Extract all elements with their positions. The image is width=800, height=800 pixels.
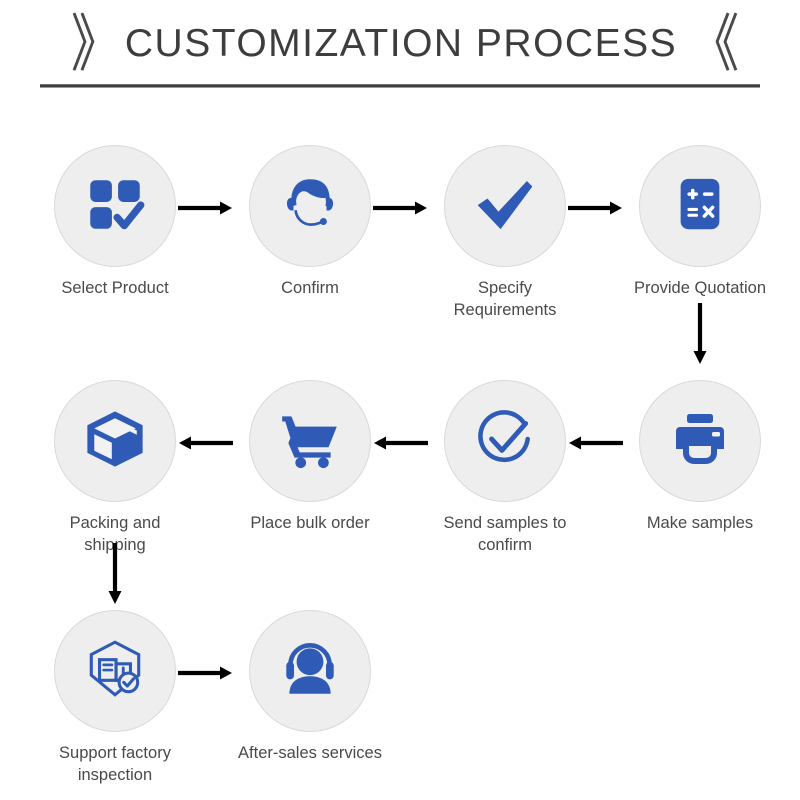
arrow-row1-step3-to-step4 <box>568 200 623 216</box>
step-label: Provide Quotation <box>625 278 775 300</box>
package-box-icon <box>81 405 149 478</box>
circle-check-icon <box>472 406 538 477</box>
page-title: CUSTOMIZATION PROCESS <box>125 22 677 66</box>
step-label: After-sales services <box>235 743 385 765</box>
step-support-factory-inspection[interactable]: Support factory inspection <box>40 610 190 787</box>
checkmark-icon <box>470 169 540 244</box>
step-send-samples-to-confirm[interactable]: Send samples to confirm <box>430 380 580 557</box>
arrow-row2-step3-to-step2 <box>373 435 428 451</box>
factory-inspection-icon <box>82 636 148 707</box>
step-icon-circle <box>249 145 371 267</box>
grid-check-icon <box>82 171 148 242</box>
step-confirm[interactable]: Confirm <box>235 145 385 300</box>
step-icon-circle <box>249 380 371 502</box>
step-make-samples[interactable]: Make samples <box>625 380 775 535</box>
step-label: Make samples <box>625 513 775 535</box>
process-flow: Select Product Confirm Speci <box>0 88 800 788</box>
step-after-sales-services[interactable]: After-sales services <box>235 610 385 765</box>
shopping-cart-icon <box>277 406 343 477</box>
arrow-row1-step2-to-step3 <box>373 200 428 216</box>
arrow-row2-to-row3 <box>107 543 123 605</box>
step-icon-circle <box>639 145 761 267</box>
arrow-row1-to-row2 <box>692 303 708 365</box>
calculator-icon <box>669 173 731 240</box>
step-label: Send samples to confirm <box>430 513 580 557</box>
step-icon-circle <box>54 380 176 502</box>
step-select-product[interactable]: Select Product <box>40 145 190 300</box>
step-label: Support factory inspection <box>40 743 190 787</box>
step-label: Select Product <box>40 278 190 300</box>
step-label: Specify Requirements <box>430 278 580 322</box>
chevron-left-decoration: 》 <box>71 13 119 76</box>
arrow-row1-step1-to-step2 <box>178 200 233 216</box>
step-label: Confirm <box>235 278 385 300</box>
step-icon-circle <box>444 380 566 502</box>
arrow-row2-step4-to-step3 <box>568 435 623 451</box>
step-icon-circle <box>639 380 761 502</box>
printer-icon <box>668 407 732 476</box>
arrow-row3-step1-to-step2 <box>178 665 233 681</box>
step-icon-circle <box>54 610 176 732</box>
step-place-bulk-order[interactable]: Place bulk order <box>235 380 385 535</box>
arrow-row2-step2-to-step1 <box>178 435 233 451</box>
step-specify-requirements[interactable]: Specify Requirements <box>430 145 580 322</box>
step-icon-circle <box>444 145 566 267</box>
chevron-right-decoration: 《 <box>683 13 729 76</box>
title-row: 》 CUSTOMIZATION PROCESS 《 <box>0 14 800 74</box>
step-icon-circle <box>249 610 371 732</box>
operator-headset-icon <box>277 171 343 242</box>
step-icon-circle <box>54 145 176 267</box>
step-packing-and-shipping[interactable]: Packing and shipping <box>40 380 190 557</box>
headset-user-icon <box>277 636 343 707</box>
page-header: 》 CUSTOMIZATION PROCESS 《 <box>0 0 800 88</box>
step-label: Place bulk order <box>235 513 385 535</box>
step-provide-quotation[interactable]: Provide Quotation <box>625 145 775 300</box>
